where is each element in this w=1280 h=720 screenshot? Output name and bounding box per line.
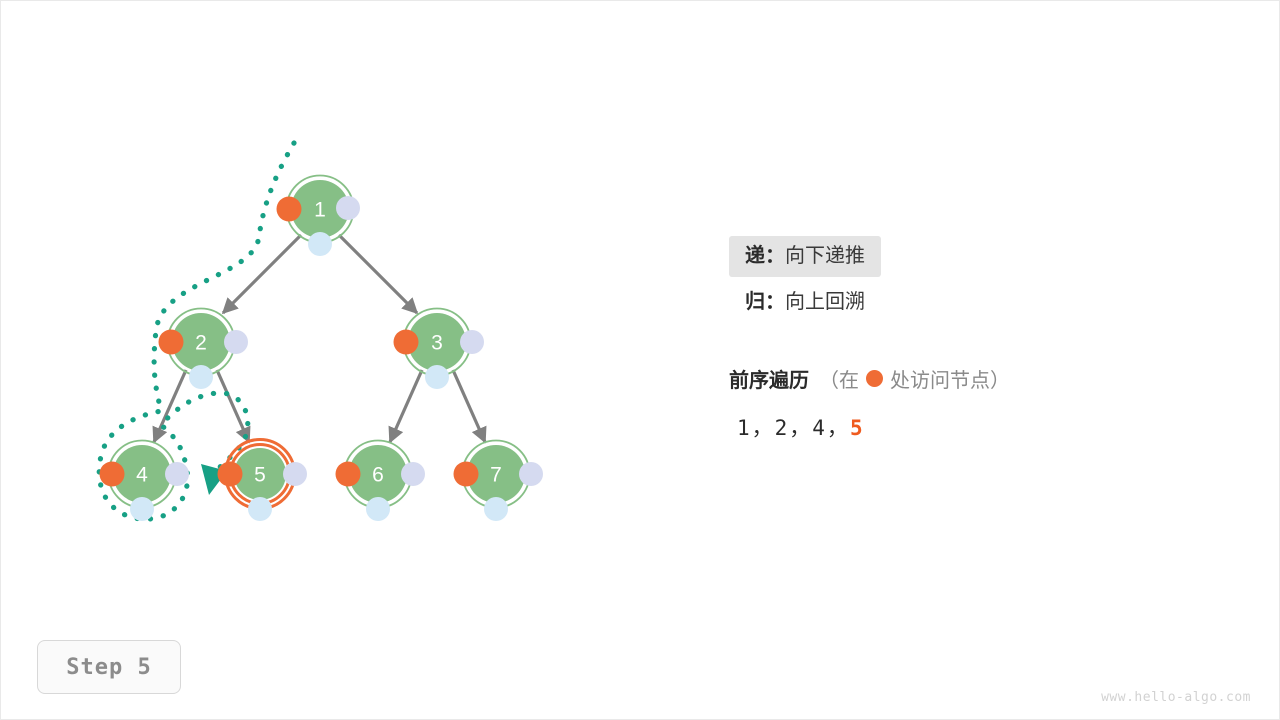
- node-7-right-dot: [519, 462, 543, 486]
- traversal-note-suffix: 处访问节点）: [890, 364, 1010, 393]
- legend-return-value: 向上回溯: [785, 291, 865, 313]
- screenshot-canvas: 1 2 3 4: [0, 0, 1280, 720]
- node-3-visit-dot: [394, 330, 419, 355]
- node-5-bottom-dot: [248, 497, 272, 521]
- edge-3-7: [453, 370, 485, 442]
- node-6-bottom-dot: [366, 497, 390, 521]
- legend-recurse-value: 向下递推: [785, 245, 865, 267]
- legend-row-return: 归：向上回溯: [729, 279, 1149, 325]
- traversal-sequence-current: 5: [850, 416, 865, 440]
- legend-recurse-chip: 递：向下递推: [729, 236, 881, 277]
- node-7-bottom-dot: [484, 497, 508, 521]
- node-4-right-dot: [165, 462, 189, 486]
- node-1-bottom-dot: [308, 232, 332, 256]
- edge-3-6: [390, 370, 422, 442]
- tree-node-7[interactable]: 7: [454, 441, 544, 522]
- tree-node-3[interactable]: 3: [394, 309, 485, 390]
- node-3-bottom-dot: [425, 365, 449, 389]
- node-5-visit-dot: [218, 462, 243, 487]
- tree-node-6[interactable]: 6: [336, 441, 426, 522]
- traversal-heading: 前序遍历 （在 处访问节点）: [729, 364, 1010, 393]
- legend-return-key: 归：: [745, 291, 785, 313]
- node-4-visit-dot: [100, 462, 125, 487]
- legend-panel: 递：向下递推 归：向上回溯: [729, 233, 1149, 325]
- edge-1-3: [339, 235, 417, 313]
- edge-1-2: [223, 235, 301, 313]
- node-6-label: 6: [372, 464, 384, 487]
- traversal-note-prefix: （在: [819, 364, 859, 393]
- node-2-bottom-dot: [189, 365, 213, 389]
- step-badge: Step 5: [37, 640, 181, 694]
- node-4-bottom-dot: [130, 497, 154, 521]
- node-1-label: 1: [314, 199, 326, 222]
- legend-return-chip: 归：向上回溯: [729, 292, 881, 312]
- tree-node-5[interactable]: 5: [218, 440, 308, 522]
- orange-circle-icon: [866, 370, 883, 387]
- node-6-right-dot: [401, 462, 425, 486]
- legend-recurse-key: 递：: [745, 245, 785, 267]
- node-7-label: 7: [490, 464, 502, 487]
- node-2-right-dot: [224, 330, 248, 354]
- edge-2-4: [154, 370, 186, 442]
- node-4-label: 4: [136, 464, 148, 487]
- node-1-right-dot: [336, 196, 360, 220]
- node-3-right-dot: [460, 330, 484, 354]
- legend-row-recurse: 递：向下递推: [729, 233, 1149, 279]
- binary-tree-diagram: 1 2 3 4: [1, 1, 621, 601]
- tree-node-2[interactable]: 2: [159, 309, 249, 390]
- traversal-sequence: 1，2，4，5: [737, 412, 865, 442]
- node-5-label: 5: [254, 464, 266, 487]
- traversal-sequence-visited: 1，2，4，: [737, 416, 850, 440]
- node-3-label: 3: [431, 332, 443, 355]
- edge-2-5: [217, 370, 249, 442]
- traversal-title: 前序遍历: [729, 364, 809, 393]
- node-5-right-dot: [283, 462, 307, 486]
- node-7-visit-dot: [454, 462, 479, 487]
- website-watermark: www.hello-algo.com: [1101, 690, 1251, 705]
- node-2-visit-dot: [159, 330, 184, 355]
- node-2-label: 2: [195, 332, 207, 355]
- node-1-visit-dot: [277, 197, 302, 222]
- traversal-note: （在 处访问节点）: [819, 364, 1010, 393]
- node-6-visit-dot: [336, 462, 361, 487]
